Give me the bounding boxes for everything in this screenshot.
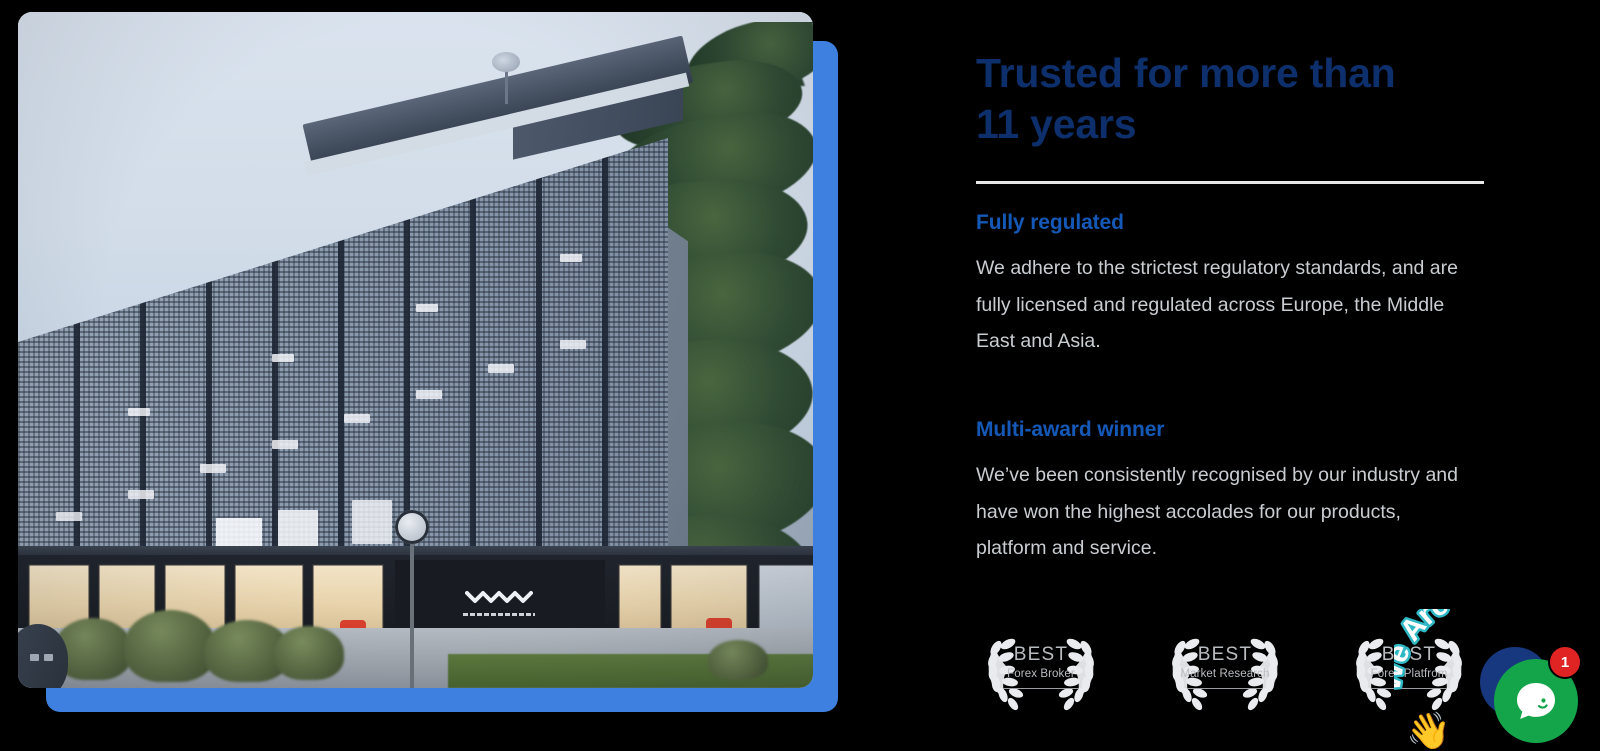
street-sign-icon	[395, 510, 429, 544]
media-column	[0, 0, 900, 747]
bollard-marking	[30, 654, 39, 661]
waving-hand-icon: 👋	[1406, 713, 1451, 749]
shrub	[124, 610, 216, 682]
award-prefix: BEST	[1160, 644, 1290, 666]
chat-bubble-icon	[1514, 679, 1558, 723]
award-category: Forex Platfrom	[1344, 666, 1474, 682]
shrub	[708, 640, 768, 680]
award-badge-text: BEST Market Research	[1160, 640, 1290, 689]
facade-window	[560, 254, 582, 262]
feature-body: We’ve been consistently recognised by ou…	[976, 457, 1476, 567]
award-badge: BEST Market Research	[1160, 616, 1290, 712]
award-category: Forex Broker	[976, 666, 1106, 682]
facade-window	[560, 340, 586, 349]
logo-underline	[463, 613, 535, 616]
chat-unread-badge: 1	[1548, 645, 1582, 679]
facade-window	[200, 464, 226, 473]
page-title: Trusted for more than 11 years	[976, 48, 1496, 150]
facade-window	[56, 512, 82, 521]
facade-window	[416, 390, 442, 399]
award-badge-text: BEST Forex Broker	[976, 640, 1106, 689]
section-divider	[976, 181, 1484, 184]
facade-window	[488, 364, 514, 373]
facade-window	[128, 408, 150, 416]
feature-body: We adhere to the strictest regulatory st…	[976, 250, 1476, 360]
facade-window	[272, 440, 298, 449]
award-prefix: BEST	[1344, 644, 1474, 666]
award-underline	[1371, 688, 1447, 689]
award-prefix: BEST	[976, 644, 1106, 666]
promo-section: Trusted for more than 11 years Fully reg…	[0, 0, 1600, 747]
award-badge: BEST Forex Broker	[976, 616, 1106, 712]
satellite-dish-icon	[492, 52, 520, 72]
award-badge-text: BEST Forex Platfrom	[1344, 640, 1474, 689]
photo-scene	[18, 12, 813, 688]
award-underline	[1187, 688, 1263, 689]
facade-window	[344, 414, 370, 423]
facade-window	[352, 500, 392, 544]
feature-block-regulated: Fully regulated We adhere to the stricte…	[976, 210, 1476, 360]
feature-heading: Fully regulated	[976, 210, 1476, 236]
facade-window	[416, 304, 438, 312]
award-underline	[1003, 688, 1079, 689]
shrub	[274, 626, 344, 680]
headline-line-1: Trusted for more than	[976, 50, 1396, 96]
bollard-marking	[44, 654, 53, 661]
feature-block-awards: Multi-award winner We’ve been consistent…	[976, 417, 1476, 567]
award-category: Market Research	[1160, 666, 1290, 682]
feature-heading: Multi-award winner	[976, 417, 1476, 443]
office-building-photo	[18, 12, 813, 688]
headline-line-2: 11 years	[976, 99, 1496, 150]
zigzag-logo-icon	[465, 590, 533, 604]
facade-window	[128, 490, 154, 499]
facade-window	[272, 354, 294, 362]
